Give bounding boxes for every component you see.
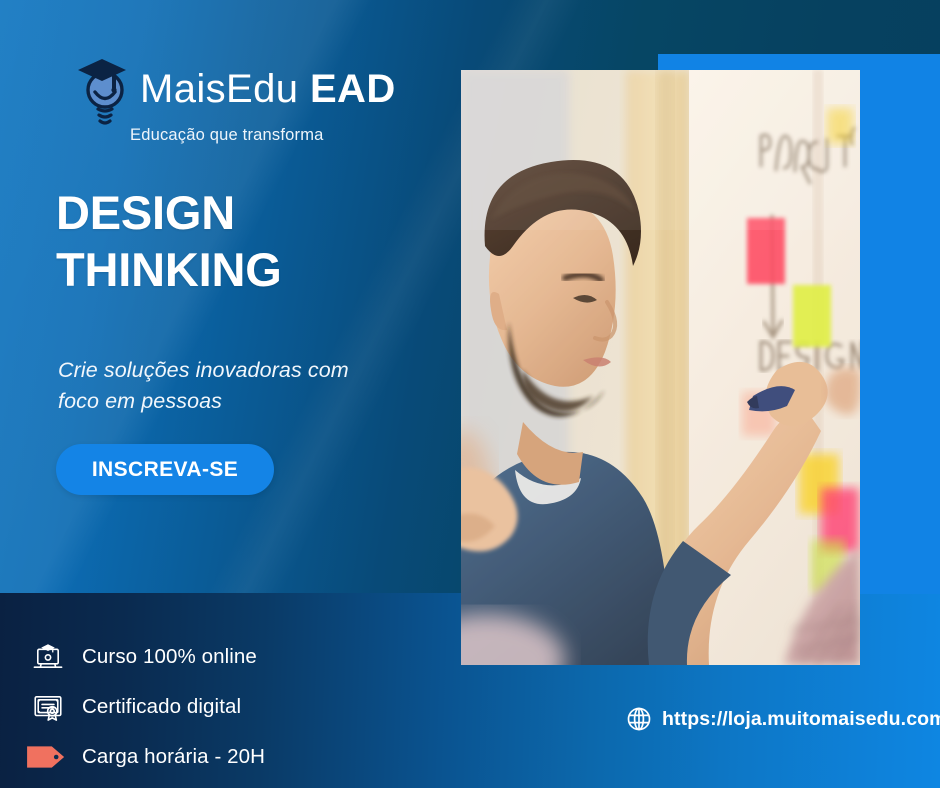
globe-icon xyxy=(626,706,652,732)
list-item: Carga horária - 20H xyxy=(28,732,265,782)
subtitle-line-2: foco em pessoas xyxy=(58,386,418,417)
enroll-button[interactable]: INSCREVA-SE xyxy=(56,444,274,495)
page-title-line-1: DESIGN xyxy=(56,185,282,242)
list-item-label: Curso 100% online xyxy=(82,645,257,669)
list-item: Certificado digital xyxy=(28,682,265,732)
list-item-label: Carga horária - 20H xyxy=(82,745,265,769)
website-link[interactable]: https://loja.muitomaisedu.com xyxy=(626,706,940,732)
price-tag-icon xyxy=(28,737,68,777)
brand-name: MaisEdu EAD xyxy=(140,69,396,113)
laptop-graduation-cap-icon xyxy=(28,637,68,677)
page-title-line-2: THINKING xyxy=(56,242,282,299)
feature-list: Curso 100% online xyxy=(28,632,265,782)
page-title: DESIGN THINKING xyxy=(56,185,282,299)
hero-photo xyxy=(461,70,860,665)
list-item-label: Certificado digital xyxy=(82,695,241,719)
promo-banner: MaisEdu EAD Educação que transforma DESI… xyxy=(0,0,940,788)
brand-tagline: Educação que transforma xyxy=(130,126,396,145)
lightbulb-graduation-cap-icon xyxy=(72,52,134,130)
subtitle-line-1: Crie soluções inovadoras com xyxy=(58,355,418,386)
brand-name-bold: EAD xyxy=(310,67,396,111)
certificate-icon xyxy=(28,687,68,727)
list-item: Curso 100% online xyxy=(28,632,265,682)
brand-logo: MaisEdu EAD Educação que transforma xyxy=(72,52,396,145)
hero-photo-illustration xyxy=(461,70,860,665)
brand-name-light: MaisEdu xyxy=(140,67,298,111)
subtitle: Crie soluções inovadoras com foco em pes… xyxy=(58,355,418,416)
website-url: https://loja.muitomaisedu.com xyxy=(662,708,940,731)
